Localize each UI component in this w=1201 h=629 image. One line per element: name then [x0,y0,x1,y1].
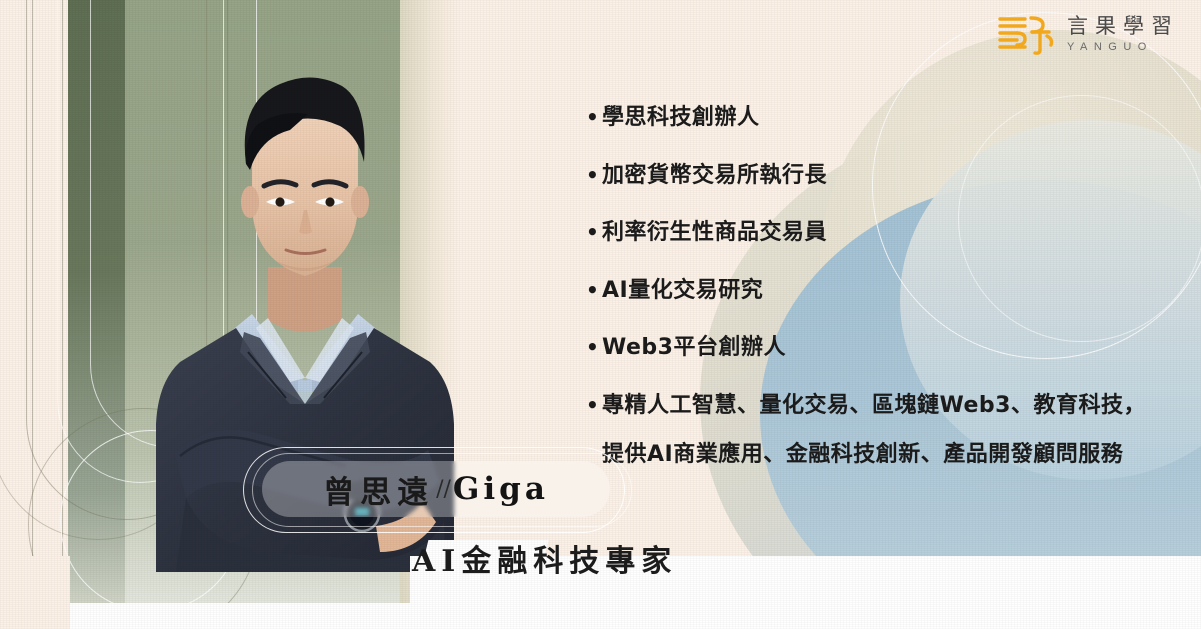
list-item: • 學思科技創辦人 [586,104,1186,132]
bullet-dot-icon: • [586,219,602,245]
bullet-dot-icon: • [586,392,602,418]
footer-white-strip [0,603,1201,629]
bullet-dot-icon: • [586,162,602,188]
name-badge: 曾思遠 // Giga [262,461,610,517]
bullet-dot-icon: • [586,277,602,303]
brand-name-cn: 言果學習 [1067,16,1179,37]
list-item: • Web3平台創辦人 [586,334,1186,362]
speaker-intro-slide: 言果學習 YANGUO • 學思科技創辦人 • 加密貨幣交易所執行長 • 利率衍… [0,0,1201,629]
bullet-dot-icon: • [586,104,602,130]
credential-text-6: 專精人工智慧、量化交易、區塊鏈Web3、教育科技， 提供AI商業應用、金融科技創… [602,392,1186,469]
list-item: • 專精人工智慧、量化交易、區塊鏈Web3、教育科技， 提供AI商業應用、金融科… [586,392,1186,469]
credential-text-6-line1: 專精人工智慧、量化交易、區塊鏈Web3、教育科技， [602,393,1146,418]
yanguo-logo-mark-icon [995,12,1057,56]
brand-name-en: YANGUO [1067,42,1179,53]
credential-text-6-line2: 提供AI商業應用、金融科技創新、產品開發顧問服務 [602,441,1186,469]
credentials-list: • 學思科技創辦人 • 加密貨幣交易所執行長 • 利率衍生性商品交易員 • AI… [586,104,1186,499]
credential-text-3: 利率衍生性商品交易員 [602,219,1186,247]
brand-logo[interactable]: 言果學習 YANGUO [995,12,1179,56]
credential-text-5: Web3平台創辦人 [602,334,1186,362]
list-item: • 加密貨幣交易所執行長 [586,162,1186,190]
name-separator: // [436,477,451,502]
credential-text-2: 加密貨幣交易所執行長 [602,162,1186,190]
footer-cream-corner [0,556,70,629]
speaker-name-cn: 曾思遠 [323,467,434,512]
speaker-name-en: Giga [453,471,549,507]
decor-hairline-1 [32,0,33,560]
list-item: • AI量化交易研究 [586,277,1186,305]
speaker-subtitle: AI金融科技專家 [412,536,677,580]
bullet-dot-icon: • [586,334,602,360]
list-item: • 利率衍生性商品交易員 [586,219,1186,247]
brand-logo-wordmark: 言果學習 YANGUO [1067,16,1179,53]
credential-text-4: AI量化交易研究 [602,277,1186,305]
credential-text-1: 學思科技創辦人 [602,104,1186,132]
